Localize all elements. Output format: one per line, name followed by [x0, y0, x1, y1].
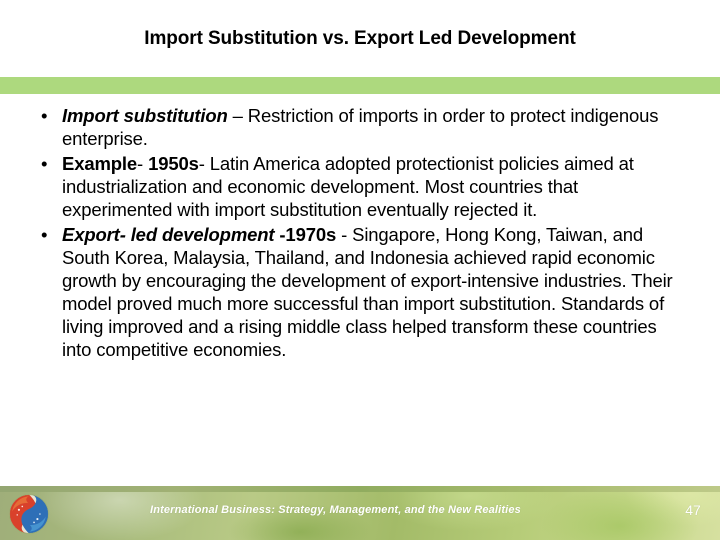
- bullet-lead-emphasis: Import substitution: [62, 105, 228, 126]
- bullet-item-export-led-development: • Export- led development -1970s - Singa…: [32, 223, 684, 361]
- slide-body: • Import substitution – Restriction of i…: [0, 104, 720, 479]
- footer-book-title: International Business: Strategy, Manage…: [150, 504, 521, 516]
- slide: Import Substitution vs. Export Led Devel…: [0, 0, 720, 540]
- footer-top-strip: [0, 486, 720, 492]
- pearson-swirl-logo-icon: [8, 493, 50, 535]
- bullet-lead-emphasis: Export- led development: [62, 224, 279, 245]
- bullet-lead-decade: -1970s: [279, 224, 336, 245]
- bullet-item-example-1950s: • Example- 1950s- Latin America adopted …: [32, 152, 684, 221]
- bullet-mid-plain: -: [137, 153, 148, 174]
- page-title: Import Substitution vs. Export Led Devel…: [40, 27, 680, 51]
- bullet-item-import-substitution: • Import substitution – Restriction of i…: [32, 104, 684, 150]
- bullet-marker-icon: •: [41, 152, 47, 175]
- bullet-text: Example- 1950s- Latin America adopted pr…: [62, 152, 684, 221]
- bullet-text: Import substitution – Restriction of imp…: [62, 104, 684, 150]
- bullet-list: • Import substitution – Restriction of i…: [32, 104, 684, 363]
- bullet-lead-emphasis: Example: [62, 153, 137, 174]
- slide-page-number: 47: [680, 502, 706, 518]
- bullet-text: Export- led development -1970s - Singapo…: [62, 223, 684, 361]
- bullet-marker-icon: •: [41, 104, 47, 127]
- title-accent-bar: [0, 77, 720, 94]
- bullet-mid-emphasis: 1950s: [148, 153, 199, 174]
- bullet-marker-icon: •: [41, 223, 47, 246]
- title-area: Import Substitution vs. Export Led Devel…: [0, 0, 720, 77]
